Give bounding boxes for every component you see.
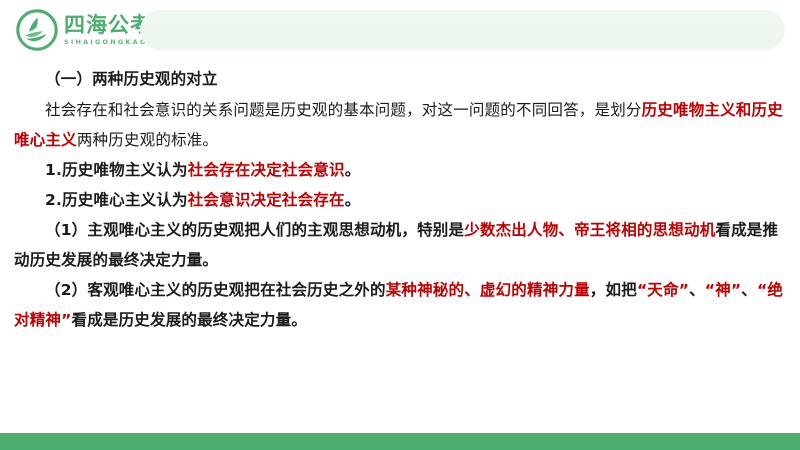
list-item-1-highlight: 社会存在决定社会意识 bbox=[188, 161, 345, 179]
brand-text-block: 四海公考 SIHAIGONGKAO bbox=[64, 15, 152, 46]
paragraph-definition-part2: 两种历史观的标准。 bbox=[77, 131, 218, 149]
brand-name: 四海公考 bbox=[64, 15, 152, 36]
header-title-pill bbox=[140, 10, 785, 50]
list-item-1-part2: 。 bbox=[345, 161, 361, 179]
list-item-2: 2.历史唯心主义认为社会意识决定社会存在。 bbox=[14, 185, 786, 215]
list-item-3: （1）主观唯心主义的历史观把人们的主观思想动机，特别是少数杰出人物、帝王将相的思… bbox=[14, 215, 786, 275]
slide-content: （一）两种历史观的对立 社会存在和社会意识的关系问题是历史观的基本问题，对这一问… bbox=[0, 64, 800, 364]
list-item-4-highlight-1: 某种神秘的、虚幻的精神力量 bbox=[386, 281, 590, 299]
paragraph-definition: 社会存在和社会意识的关系问题是历史观的基本问题，对这一问题的不同回答，是划分历史… bbox=[14, 95, 786, 155]
brand-logo: 四海公考 SIHAIGONGKAO bbox=[16, 9, 152, 51]
list-item-4-highlight-2: “天命” bbox=[637, 281, 689, 299]
list-item-3-highlight: 少数杰出人物、帝王将相的思想动机 bbox=[464, 221, 715, 239]
list-item-4-part4: 、 bbox=[741, 281, 757, 299]
list-item-4-part1: （2）客观唯心主义的历史观把在社会历史之外的 bbox=[45, 281, 386, 299]
list-item-2-part1: 2.历史唯心主义认为 bbox=[45, 191, 188, 209]
list-item-3-part1: （1）主观唯心主义的历史观把人们的主观思想动机，特别是 bbox=[45, 221, 464, 239]
slide-header: 四海公考 SIHAIGONGKAO bbox=[0, 0, 800, 60]
sail-leaf-circle-logo-icon bbox=[16, 9, 58, 51]
list-item-2-part2: 。 bbox=[345, 191, 361, 209]
list-item-1: 1.历史唯物主义认为社会存在决定社会意识。 bbox=[14, 155, 786, 185]
list-item-4-highlight-3: “神” bbox=[705, 281, 741, 299]
footer-accent-bar bbox=[0, 433, 800, 450]
list-item-4-part2: ，如把 bbox=[590, 281, 637, 299]
list-item-4: （2）客观唯心主义的历史观把在社会历史之外的某种神秘的、虚幻的精神力量，如把“天… bbox=[14, 275, 786, 335]
list-item-1-part1: 1.历史唯物主义认为 bbox=[45, 161, 188, 179]
list-item-4-part3: 、 bbox=[689, 281, 705, 299]
list-item-2-highlight: 社会意识决定社会存在 bbox=[188, 191, 345, 209]
section-heading: （一）两种历史观的对立 bbox=[14, 64, 786, 94]
list-item-4-part5: 看成是历史发展的最终决定力量。 bbox=[72, 311, 308, 329]
brand-subtitle: SIHAIGONGKAO bbox=[64, 39, 152, 46]
paragraph-definition-part1: 社会存在和社会意识的关系问题是历史观的基本问题，对这一问题的不同回答，是划分 bbox=[45, 101, 642, 119]
